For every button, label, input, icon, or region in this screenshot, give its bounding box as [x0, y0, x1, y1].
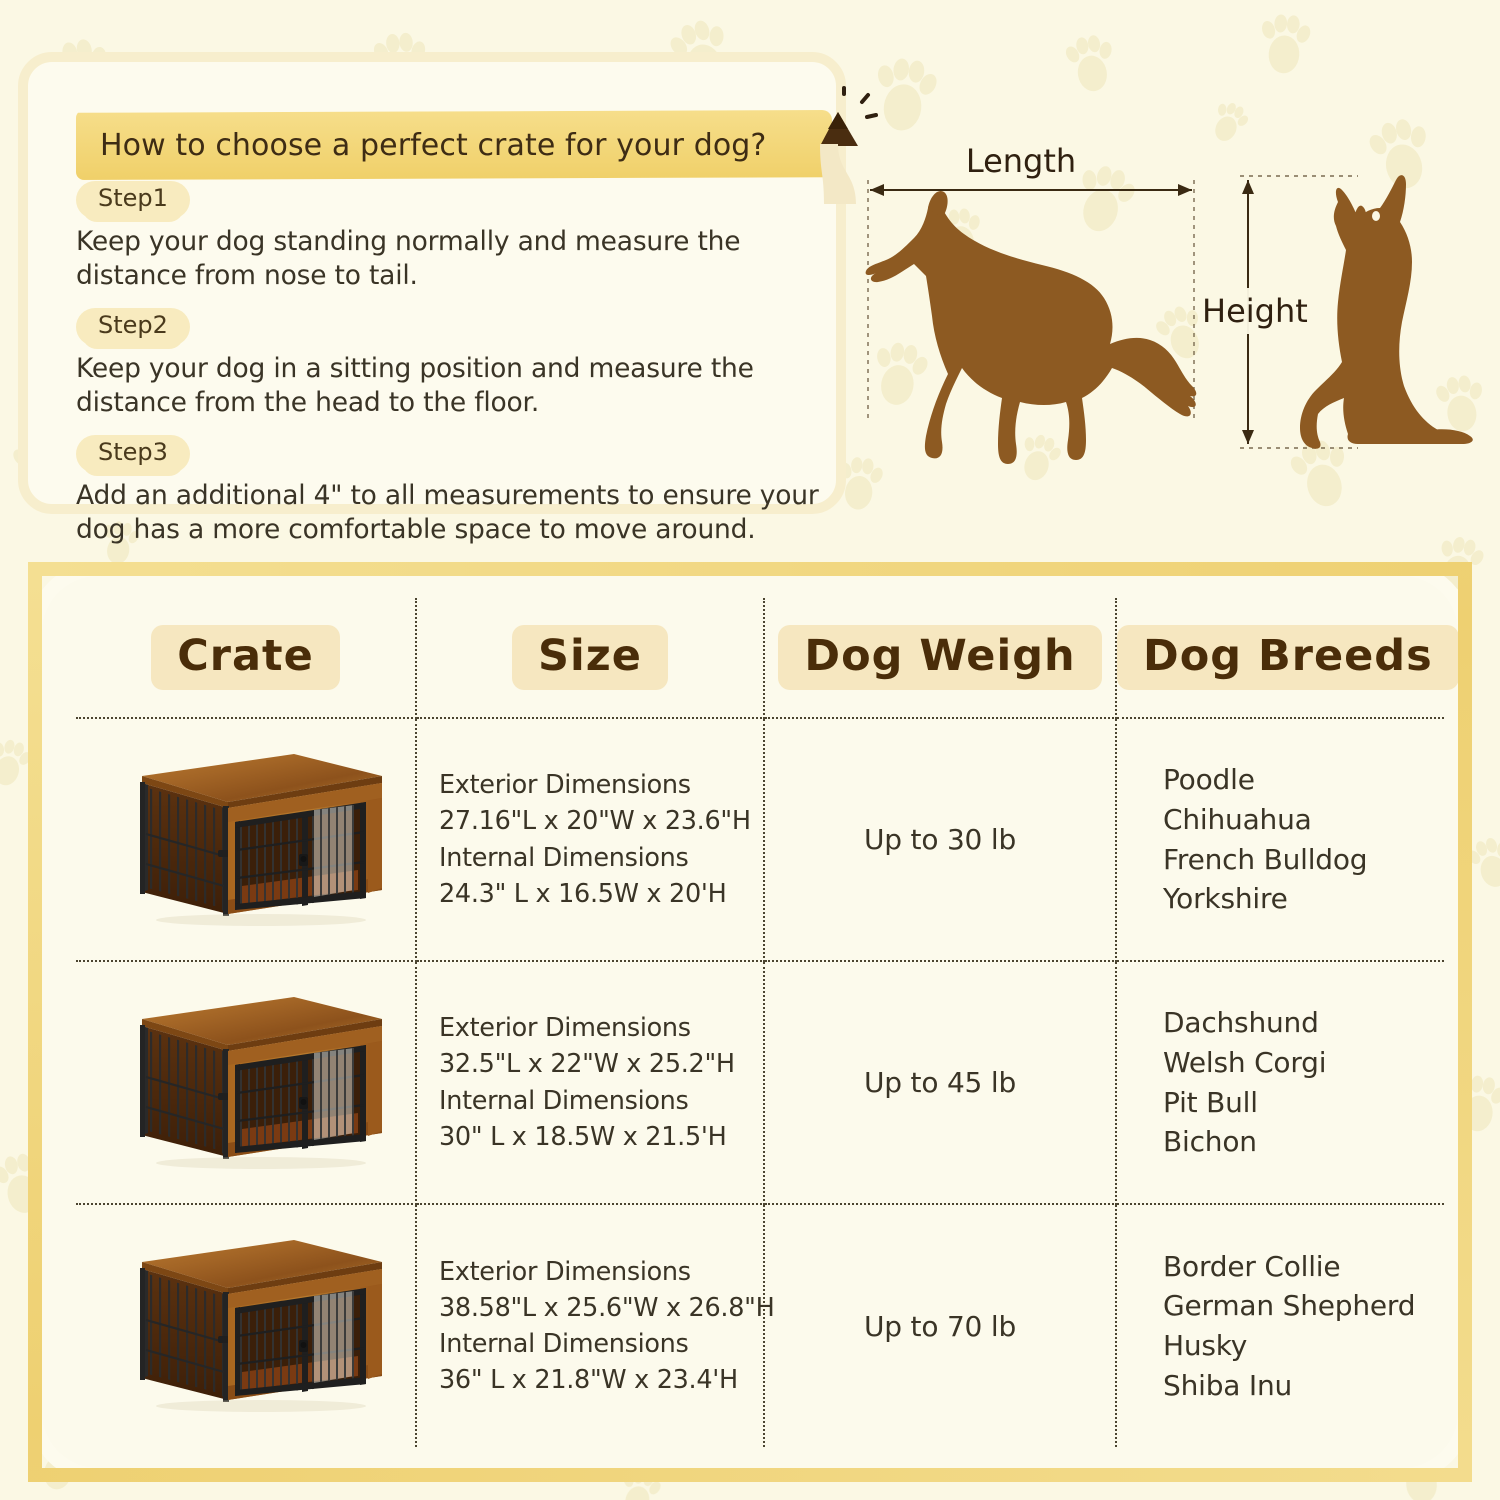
step-text-1: Keep your dog standing normally and meas…	[76, 225, 844, 293]
cell-size: Exterior Dimensions38.58"L x 25.6"W x 26…	[416, 1204, 764, 1447]
breed-item: Border Collie	[1163, 1247, 1444, 1287]
internal-dimensions-value: 30" L x 18.5W x 21.5'H	[439, 1119, 763, 1155]
step-text-3: Add an additional 4" to all measurements…	[76, 479, 844, 547]
breed-item: Shiba Inu	[1163, 1366, 1444, 1406]
table-row: Exterior Dimensions32.5"L x 22"W x 25.2"…	[76, 961, 1444, 1204]
internal-dimensions-value: 24.3" L x 16.5W x 20'H	[439, 876, 763, 912]
breed-item: German Shepherd	[1163, 1286, 1444, 1326]
internal-dimensions-value: 36" L x 21.8"W x 23.4'H	[439, 1362, 763, 1398]
breed-item: Husky	[1163, 1326, 1444, 1366]
pencil-icon	[814, 84, 886, 204]
breed-item: Poodle	[1163, 760, 1444, 800]
step-badge-1: Step1	[76, 180, 190, 217]
internal-dimensions-label: Internal Dimensions	[439, 1326, 763, 1362]
cell-size: Exterior Dimensions32.5"L x 22"W x 25.2"…	[416, 961, 764, 1204]
exterior-dimensions-label: Exterior Dimensions	[439, 1254, 763, 1290]
size-chart-table: Crate Size Dog Weigh Dog Breeds	[76, 598, 1444, 1447]
breed-item: Yorkshire	[1163, 879, 1444, 919]
step-badge-2: Step2	[76, 307, 190, 344]
cell-dog-weight: Up to 70 lb	[764, 1204, 1116, 1447]
cell-dog-weight: Up to 30 lb	[764, 718, 1116, 961]
standing-dog-silhouette-icon	[866, 191, 1197, 464]
step-badge-3: Step3	[76, 434, 190, 471]
height-label: Height	[1202, 292, 1308, 330]
table-header-row: Crate Size Dog Weigh Dog Breeds	[76, 598, 1444, 718]
cell-crate-image	[76, 1204, 416, 1447]
intro-section: How to choose a perfect crate for your d…	[0, 0, 1500, 545]
exterior-dimensions-label: Exterior Dimensions	[439, 1010, 763, 1046]
length-label: Length	[966, 142, 1076, 180]
dog-measurement-diagram: Length Height	[846, 130, 1496, 490]
cell-dog-weight: Up to 45 lb	[764, 961, 1116, 1204]
column-header-size: Size	[416, 598, 764, 718]
step-text-2: Keep your dog in a sitting position and …	[76, 352, 844, 420]
table-body: Exterior Dimensions27.16"L x 20"W x 23.6…	[76, 718, 1444, 1447]
dog-crate-furniture-medium-icon	[96, 981, 396, 1181]
internal-dimensions-label: Internal Dimensions	[439, 840, 763, 876]
column-header-crate: Crate	[76, 598, 416, 718]
column-header-dog-breeds: Dog Breeds	[1116, 598, 1444, 718]
exterior-dimensions-value: 32.5"L x 22"W x 25.2"H	[439, 1046, 763, 1082]
breed-item: French Bulldog	[1163, 840, 1444, 880]
breed-item: Chihuahua	[1163, 800, 1444, 840]
exterior-dimensions-label: Exterior Dimensions	[439, 767, 763, 803]
exterior-dimensions-value: 38.58"L x 25.6"W x 26.8"H	[439, 1290, 763, 1326]
column-header-dog-weigh: Dog Weigh	[764, 598, 1116, 718]
dog-crate-furniture-large-icon	[96, 1224, 396, 1424]
breed-item: Pit Bull	[1163, 1083, 1444, 1123]
page-title: How to choose a perfect crate for your d…	[76, 128, 766, 163]
cell-size: Exterior Dimensions27.16"L x 20"W x 23.6…	[416, 718, 764, 961]
breed-item: Welsh Corgi	[1163, 1043, 1444, 1083]
steps-list: Step1 Keep your dog standing normally an…	[74, 180, 844, 546]
how-to-choose-card: How to choose a perfect crate for your d…	[18, 52, 846, 514]
cell-dog-breeds: PoodleChihuahuaFrench BulldogYorkshire	[1116, 718, 1444, 961]
cell-dog-breeds: Border CollieGerman ShepherdHuskyShiba I…	[1116, 1204, 1444, 1447]
dog-crate-furniture-small-icon	[96, 738, 396, 938]
exterior-dimensions-value: 27.16"L x 20"W x 23.6"H	[439, 803, 763, 839]
cell-crate-image	[76, 718, 416, 961]
breed-item: Bichon	[1163, 1122, 1444, 1162]
sitting-dog-silhouette-icon	[1300, 175, 1473, 449]
breed-item: Dachshund	[1163, 1003, 1444, 1043]
card-title-banner: How to choose a perfect crate for your d…	[76, 110, 832, 180]
cell-crate-image	[76, 961, 416, 1204]
table-row: Exterior Dimensions27.16"L x 20"W x 23.6…	[76, 718, 1444, 961]
size-chart-panel: Crate Size Dog Weigh Dog Breeds	[28, 562, 1472, 1482]
table-row: Exterior Dimensions38.58"L x 25.6"W x 26…	[76, 1204, 1444, 1447]
cell-dog-breeds: DachshundWelsh CorgiPit BullBichon	[1116, 961, 1444, 1204]
internal-dimensions-label: Internal Dimensions	[439, 1083, 763, 1119]
